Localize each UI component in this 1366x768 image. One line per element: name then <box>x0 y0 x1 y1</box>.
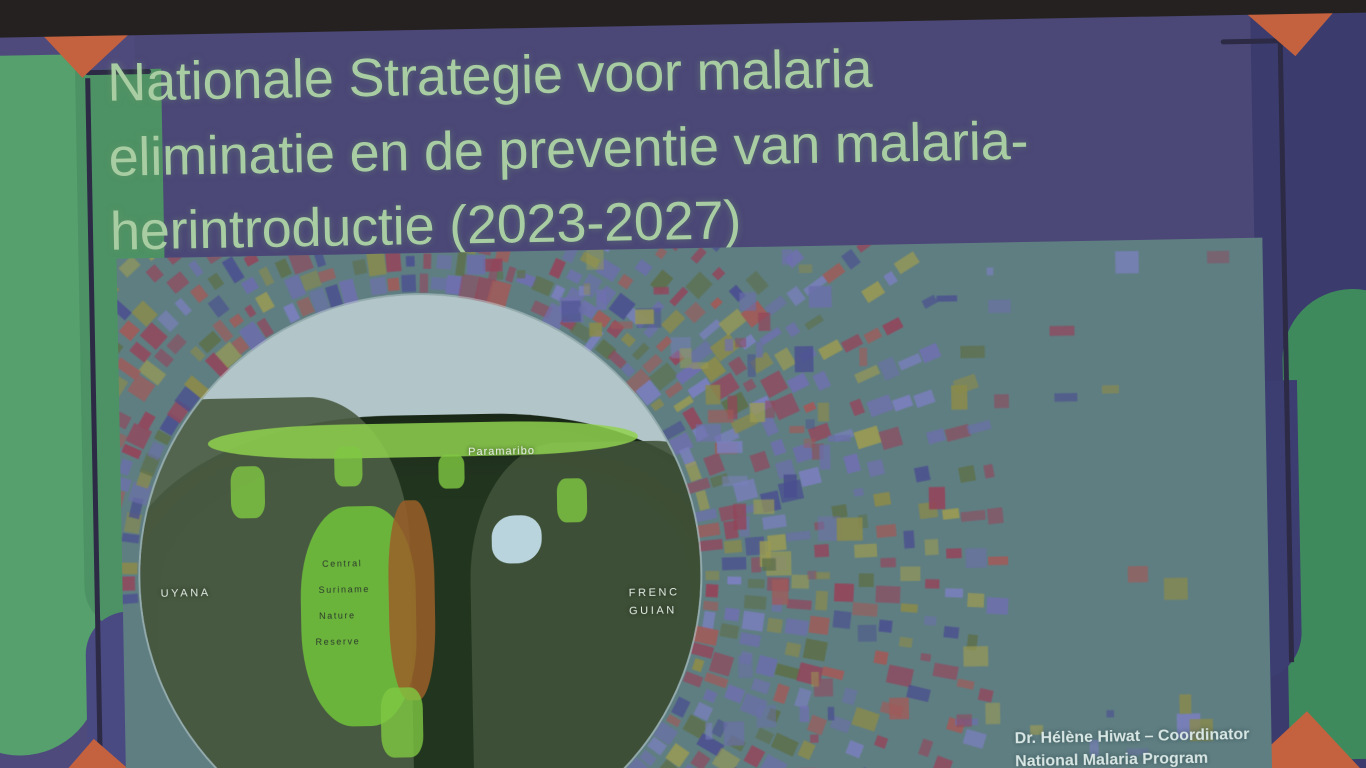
suriname-map-globe: UYANA FRENC GUIAN Paramaribo Central Sur… <box>135 290 705 768</box>
presenter-name-role: Dr. Hélène Hiwat – Coordinator <box>1015 723 1250 750</box>
map-label-reserve-4: Reserve <box>315 636 360 647</box>
screenshot-root: Nationale Strategie voor malaria elimina… <box>0 0 1366 768</box>
map-label-paramaribo: Paramaribo <box>468 445 535 458</box>
green-patch <box>380 687 423 758</box>
projected-slide: Nationale Strategie voor malaria elimina… <box>0 0 1366 768</box>
map-label-french-guiana-1: FRENC <box>629 586 680 599</box>
green-patch <box>557 478 588 523</box>
green-patch <box>334 446 363 487</box>
slide-image-panel: UYANA FRENC GUIAN Paramaribo Central Sur… <box>117 238 1273 768</box>
presenter-organization: National Malaria Program <box>1015 746 1250 768</box>
green-patch <box>230 466 265 519</box>
map-label-reserve-2: Suriname <box>319 584 371 595</box>
slide-title: Nationale Strategie voor malaria elimina… <box>107 25 1241 269</box>
presenter-attribution: Dr. Hélène Hiwat – Coordinator National … <box>1015 723 1251 768</box>
reserve-brown-ridge <box>387 500 437 701</box>
map-label-reserve-1: Central <box>322 558 362 569</box>
map-label-french-guiana-2: GUIAN <box>629 604 677 617</box>
map-label-reserve-3: Nature <box>319 610 356 621</box>
green-patch <box>438 454 465 488</box>
map-label-guyana: UYANA <box>161 587 211 600</box>
